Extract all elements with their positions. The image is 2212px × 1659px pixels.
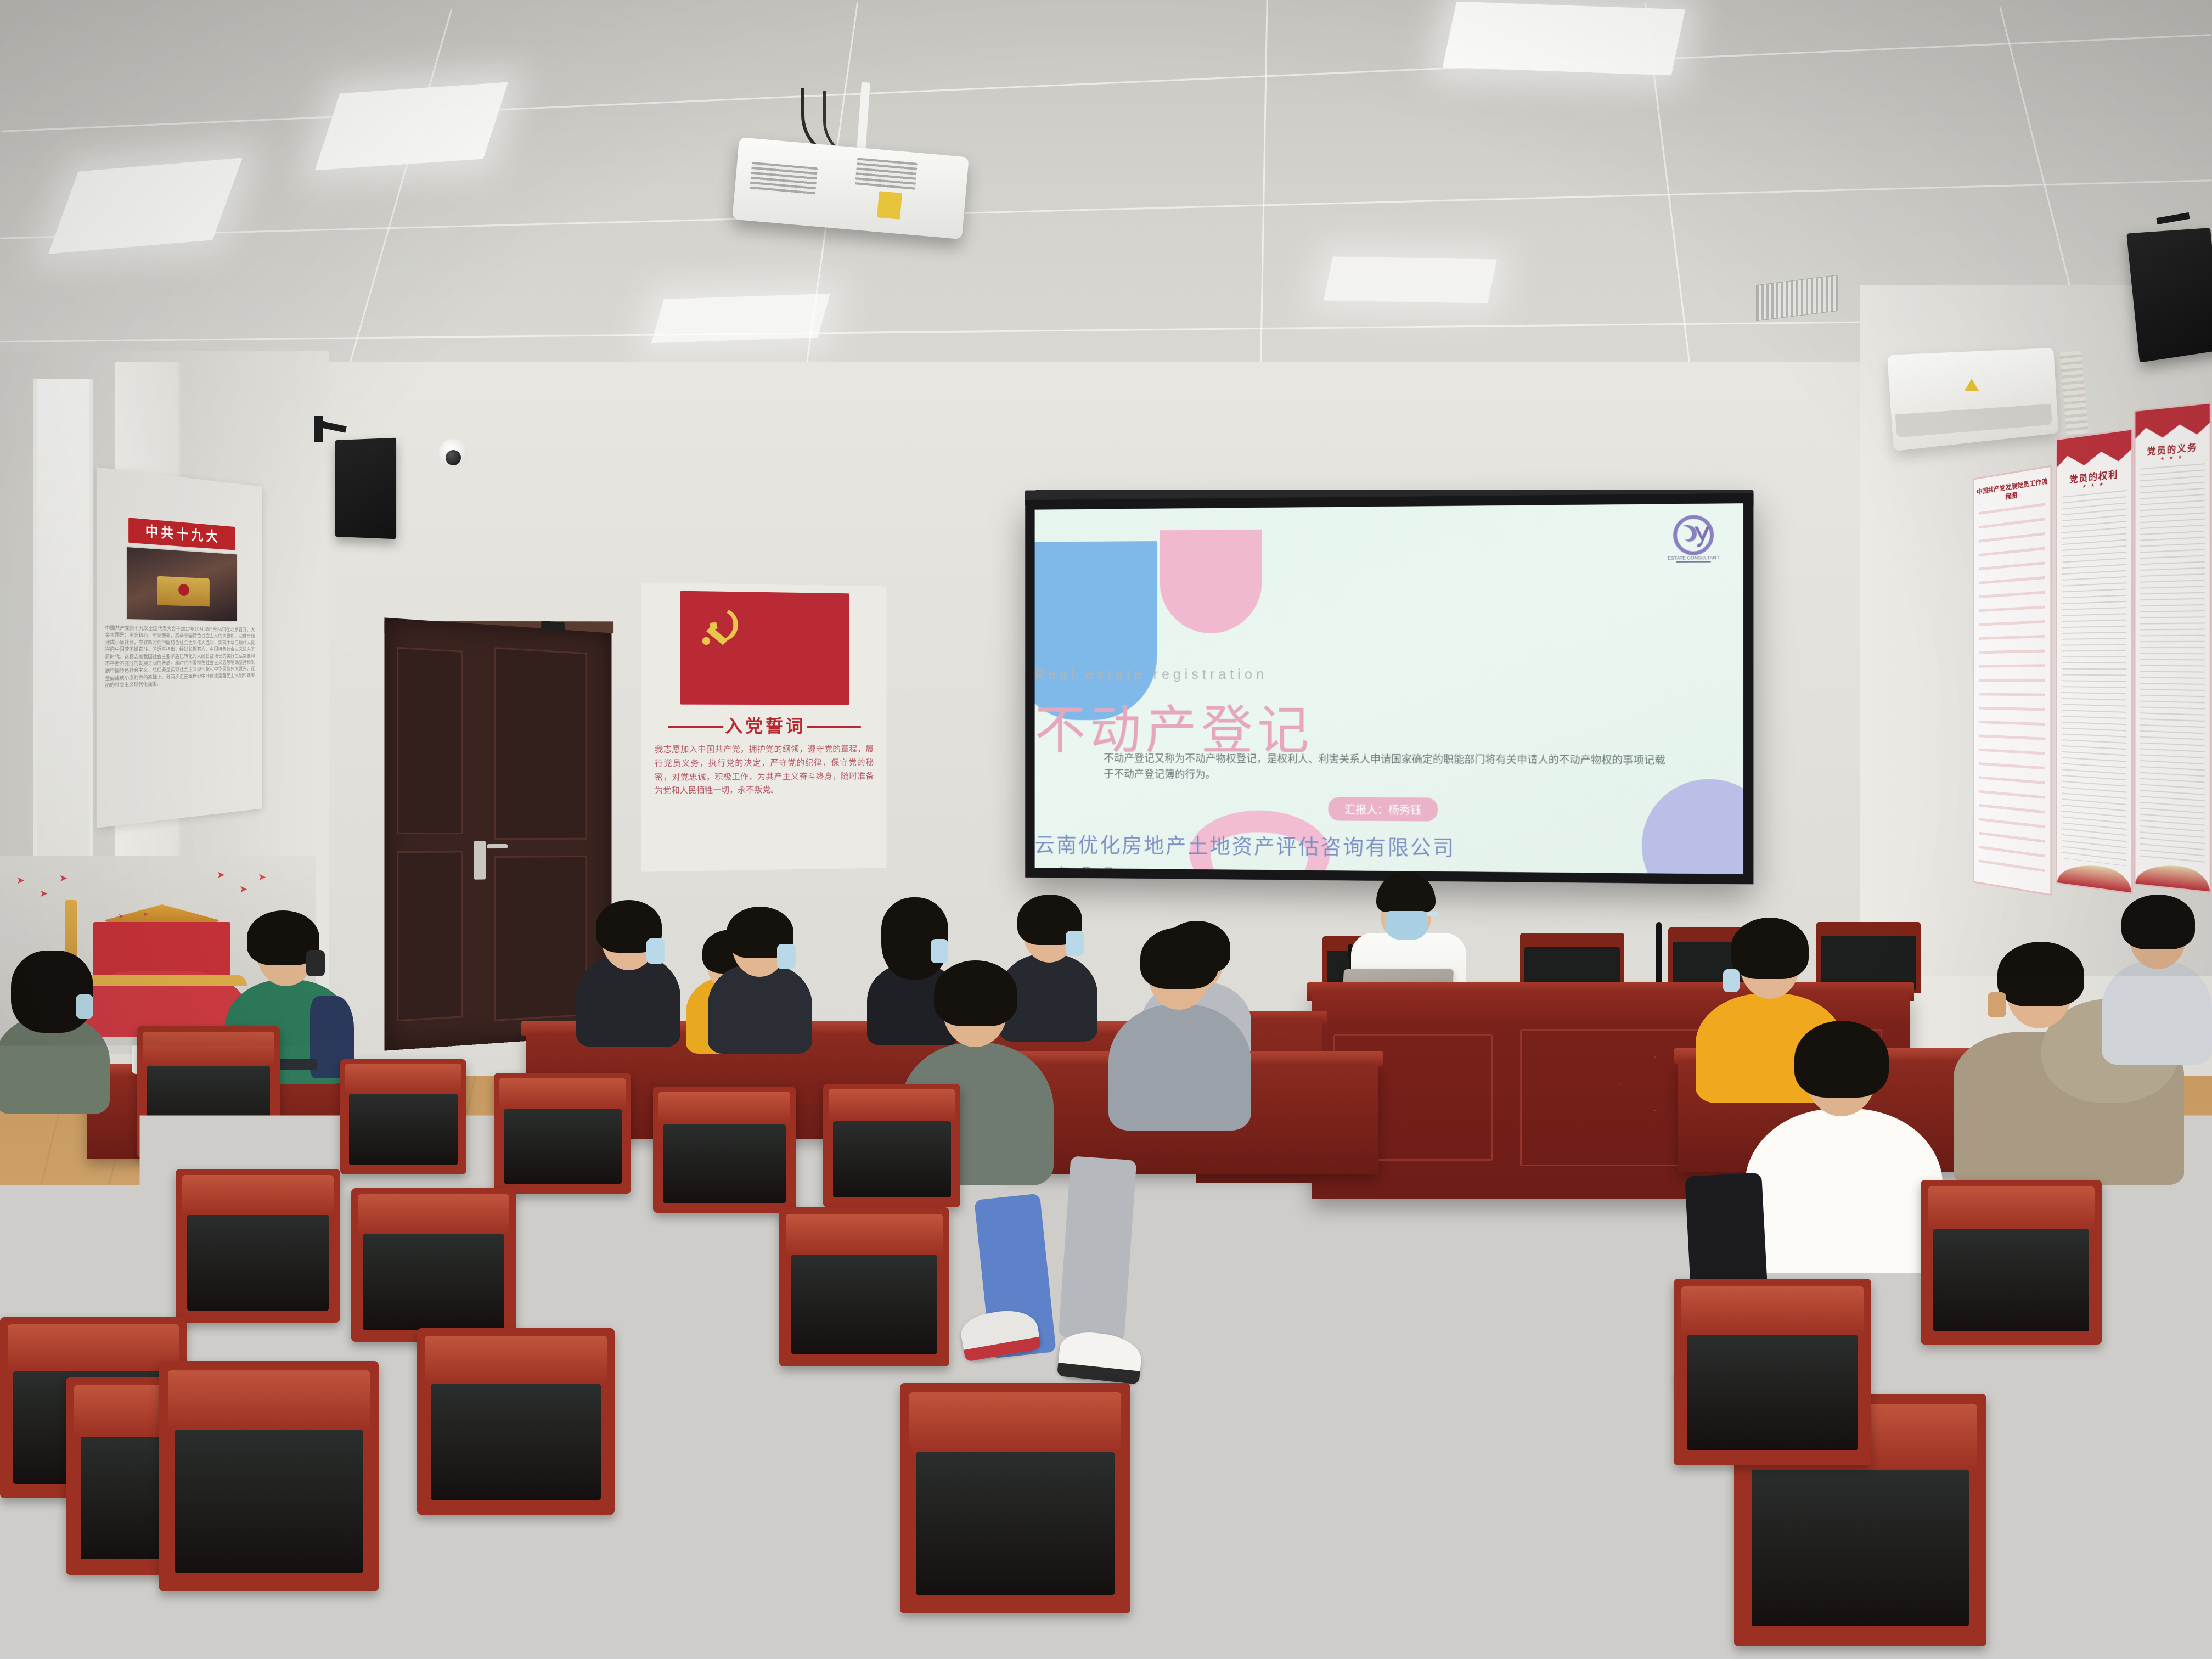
door-panel <box>494 647 587 840</box>
door-handle[interactable] <box>474 841 486 880</box>
slide-speaker-badge: 汇报人：杨秀钰 <box>1329 797 1438 821</box>
party-flag <box>680 591 849 705</box>
face-mask-icon <box>306 950 325 976</box>
person-body <box>1745 1109 1943 1273</box>
oath-title: 入党誓词 <box>641 712 887 738</box>
door-panel <box>397 851 463 1021</box>
audience-chair[interactable] <box>137 1026 280 1158</box>
company-logo-icon: ESTATE CONSULTANT <box>1667 513 1721 566</box>
oath-rule <box>668 726 723 728</box>
chair-cushion <box>363 1234 504 1330</box>
party-emblem-icon <box>178 584 189 597</box>
chair-rail <box>786 1214 942 1255</box>
person-hair <box>11 951 93 1033</box>
audience-desk-top <box>680 1591 1449 1619</box>
face-mask-icon <box>1988 992 2006 1017</box>
chair-rail <box>658 1092 790 1124</box>
face-mask-icon <box>76 994 93 1019</box>
chair-rail <box>182 1175 334 1215</box>
audience-person <box>576 904 680 1042</box>
congress-poster-body: 中国共产党第十九次全国代表大会于2017年10月18日至24日在北京召开。大会主… <box>105 625 255 689</box>
ceiling-light-panel <box>1324 256 1497 303</box>
banner-title: 中国共产党发展党员工作流程图 <box>1974 476 2051 507</box>
banner-text-lines <box>2062 490 2126 866</box>
banner-text-lines <box>2140 463 2205 865</box>
chair-rail <box>829 1089 955 1121</box>
face-mask-icon <box>646 938 665 964</box>
person-body <box>1108 1004 1251 1131</box>
audience-chair[interactable] <box>176 1169 340 1323</box>
chair-rail <box>8 1324 179 1371</box>
bird-icon: ➤ <box>143 910 149 919</box>
door-lever[interactable] <box>487 844 508 848</box>
banner-member-duties: 党员的义务 ★ ★ ★ <box>2134 402 2211 893</box>
conference-room-photo: 中共十九大 中国共产党第十九次全国代表大会于2017年10月18日至24日在北京… <box>0 0 2212 1659</box>
slide-date: 2022年03月21日 <box>1035 863 1743 874</box>
slide-blob-pink <box>1160 530 1262 633</box>
person-body <box>2102 960 2212 1065</box>
congress-poster-photo <box>126 546 237 622</box>
chair-rail <box>425 1336 606 1384</box>
slide-company-name: 云南优化房地产土地资产评估咨询有限公司 <box>1035 828 1743 864</box>
ceiling-light-panel <box>651 294 830 343</box>
chair-cushion <box>916 1452 1114 1595</box>
oath-body: 我志愿加入中国共产党，拥护党的纲领，遵守党的章程，履行党员义务，执行党的决定，严… <box>655 743 874 798</box>
chair-cushion <box>147 1066 270 1148</box>
projector-warning-label <box>877 191 902 219</box>
audience-chair[interactable] <box>159 1361 379 1591</box>
audience-person <box>2102 900 2212 1065</box>
ceiling-light-panel <box>315 82 508 171</box>
bird-icon: ➤ <box>217 869 225 881</box>
person-hair <box>1997 942 2084 1006</box>
audience-chair[interactable] <box>340 1059 466 1174</box>
audience-person <box>708 911 812 1048</box>
projection-screen: ESTATE CONSULTANT Real estate registrati… <box>1025 493 1753 885</box>
face-mask-icon <box>1066 931 1084 956</box>
hammer-sickle-icon <box>698 605 747 650</box>
wall-speaker-icon <box>2126 228 2212 363</box>
chair-cushion <box>504 1109 622 1184</box>
projector-vent <box>855 158 918 190</box>
chair-rail <box>499 1078 626 1109</box>
chair-cushion <box>175 1430 363 1573</box>
audience-chair[interactable] <box>779 1207 949 1366</box>
chair-rail <box>345 1064 461 1094</box>
face-mask-icon <box>777 944 796 969</box>
projector-vent <box>750 162 818 196</box>
oath-rule <box>807 726 861 728</box>
face-mask-icon <box>931 939 948 963</box>
slide-description: 不动产登记又称为不动产物权登记，是权利人、利害关系人申请国家确定的职能部门将有关… <box>1104 751 1670 785</box>
person-hair <box>1731 918 1809 979</box>
person-legs <box>1059 1156 1137 1341</box>
chair-rail <box>168 1370 370 1430</box>
bird-icon: ➤ <box>16 875 25 886</box>
company-logo-text: ESTATE CONSULTANT <box>1668 555 1720 561</box>
mask-strap <box>1427 912 1439 916</box>
chair-cushion <box>1933 1229 2089 1331</box>
audience-desk <box>686 1617 1449 1659</box>
presentation-slide: ESTATE CONSULTANT Real estate registrati… <box>1035 503 1743 874</box>
bird-icon: ➤ <box>118 912 124 921</box>
chair-rail <box>143 1032 274 1066</box>
camera-lens <box>446 450 461 465</box>
audience-chair[interactable] <box>1921 1180 2102 1345</box>
chair-cushion <box>349 1094 458 1165</box>
audience-chair[interactable] <box>823 1084 960 1207</box>
chair-rail <box>909 1392 1121 1452</box>
person-hair <box>1794 1021 1889 1098</box>
workflow-chart <box>1979 503 2045 874</box>
bird-icon: ➤ <box>258 871 266 883</box>
banner-member-workflow: 中国共产党发展党员工作流程图 <box>1973 465 2052 896</box>
door-closer <box>541 621 565 631</box>
chair-cushion <box>1752 1470 1969 1626</box>
congress-poster-banner: 中共十九大 <box>128 518 235 550</box>
chair-cushion <box>833 1121 951 1198</box>
door-panel <box>494 856 587 1021</box>
audience-chair[interactable] <box>653 1087 796 1213</box>
face-mask-icon <box>1723 969 1740 992</box>
chair-cushion <box>791 1255 938 1354</box>
audience-chair[interactable] <box>417 1328 615 1515</box>
wall-speaker-icon <box>335 438 396 539</box>
speaker-mount <box>314 416 323 442</box>
congress-poster: 中共十九大 中国共产党第十九次全国代表大会于2017年10月18日至24日在北京… <box>97 467 262 828</box>
slide-eyebrow: Real estate registration <box>1035 665 1743 683</box>
audience-chair[interactable] <box>351 1188 516 1342</box>
face-mask-icon <box>1385 911 1428 940</box>
audience-chair[interactable] <box>900 1383 1130 1613</box>
person-hair <box>1140 927 1218 989</box>
person-hair <box>2121 895 2195 949</box>
audience-chair[interactable] <box>494 1073 631 1194</box>
chair-cushion <box>431 1384 601 1500</box>
audience-person <box>1745 1026 1943 1273</box>
chair-cushion <box>187 1215 329 1311</box>
chair-rail <box>358 1194 509 1234</box>
chair-rail <box>1928 1186 2095 1229</box>
banner-member-rights: 党员的权利 ★ ★ ★ <box>2056 428 2133 895</box>
bird-icon: ➤ <box>239 884 247 895</box>
audience-person <box>0 955 110 1114</box>
person-hair <box>934 960 1017 1026</box>
bird-icon: ➤ <box>59 873 67 884</box>
door-panel <box>397 647 463 834</box>
chair-cushion <box>1687 1335 1858 1450</box>
left-window <box>33 379 93 873</box>
chair-rail <box>1681 1286 1863 1335</box>
bird-icon: ➤ <box>40 888 48 899</box>
audience-chair[interactable] <box>1674 1279 1871 1465</box>
party-oath-poster: 入党誓词 我志愿加入中国共产党，拥护党的纲领，遵守党的章程，履行党员义务，执行党… <box>641 582 887 871</box>
audience-person <box>1108 933 1251 1131</box>
chair-cushion <box>663 1124 786 1203</box>
